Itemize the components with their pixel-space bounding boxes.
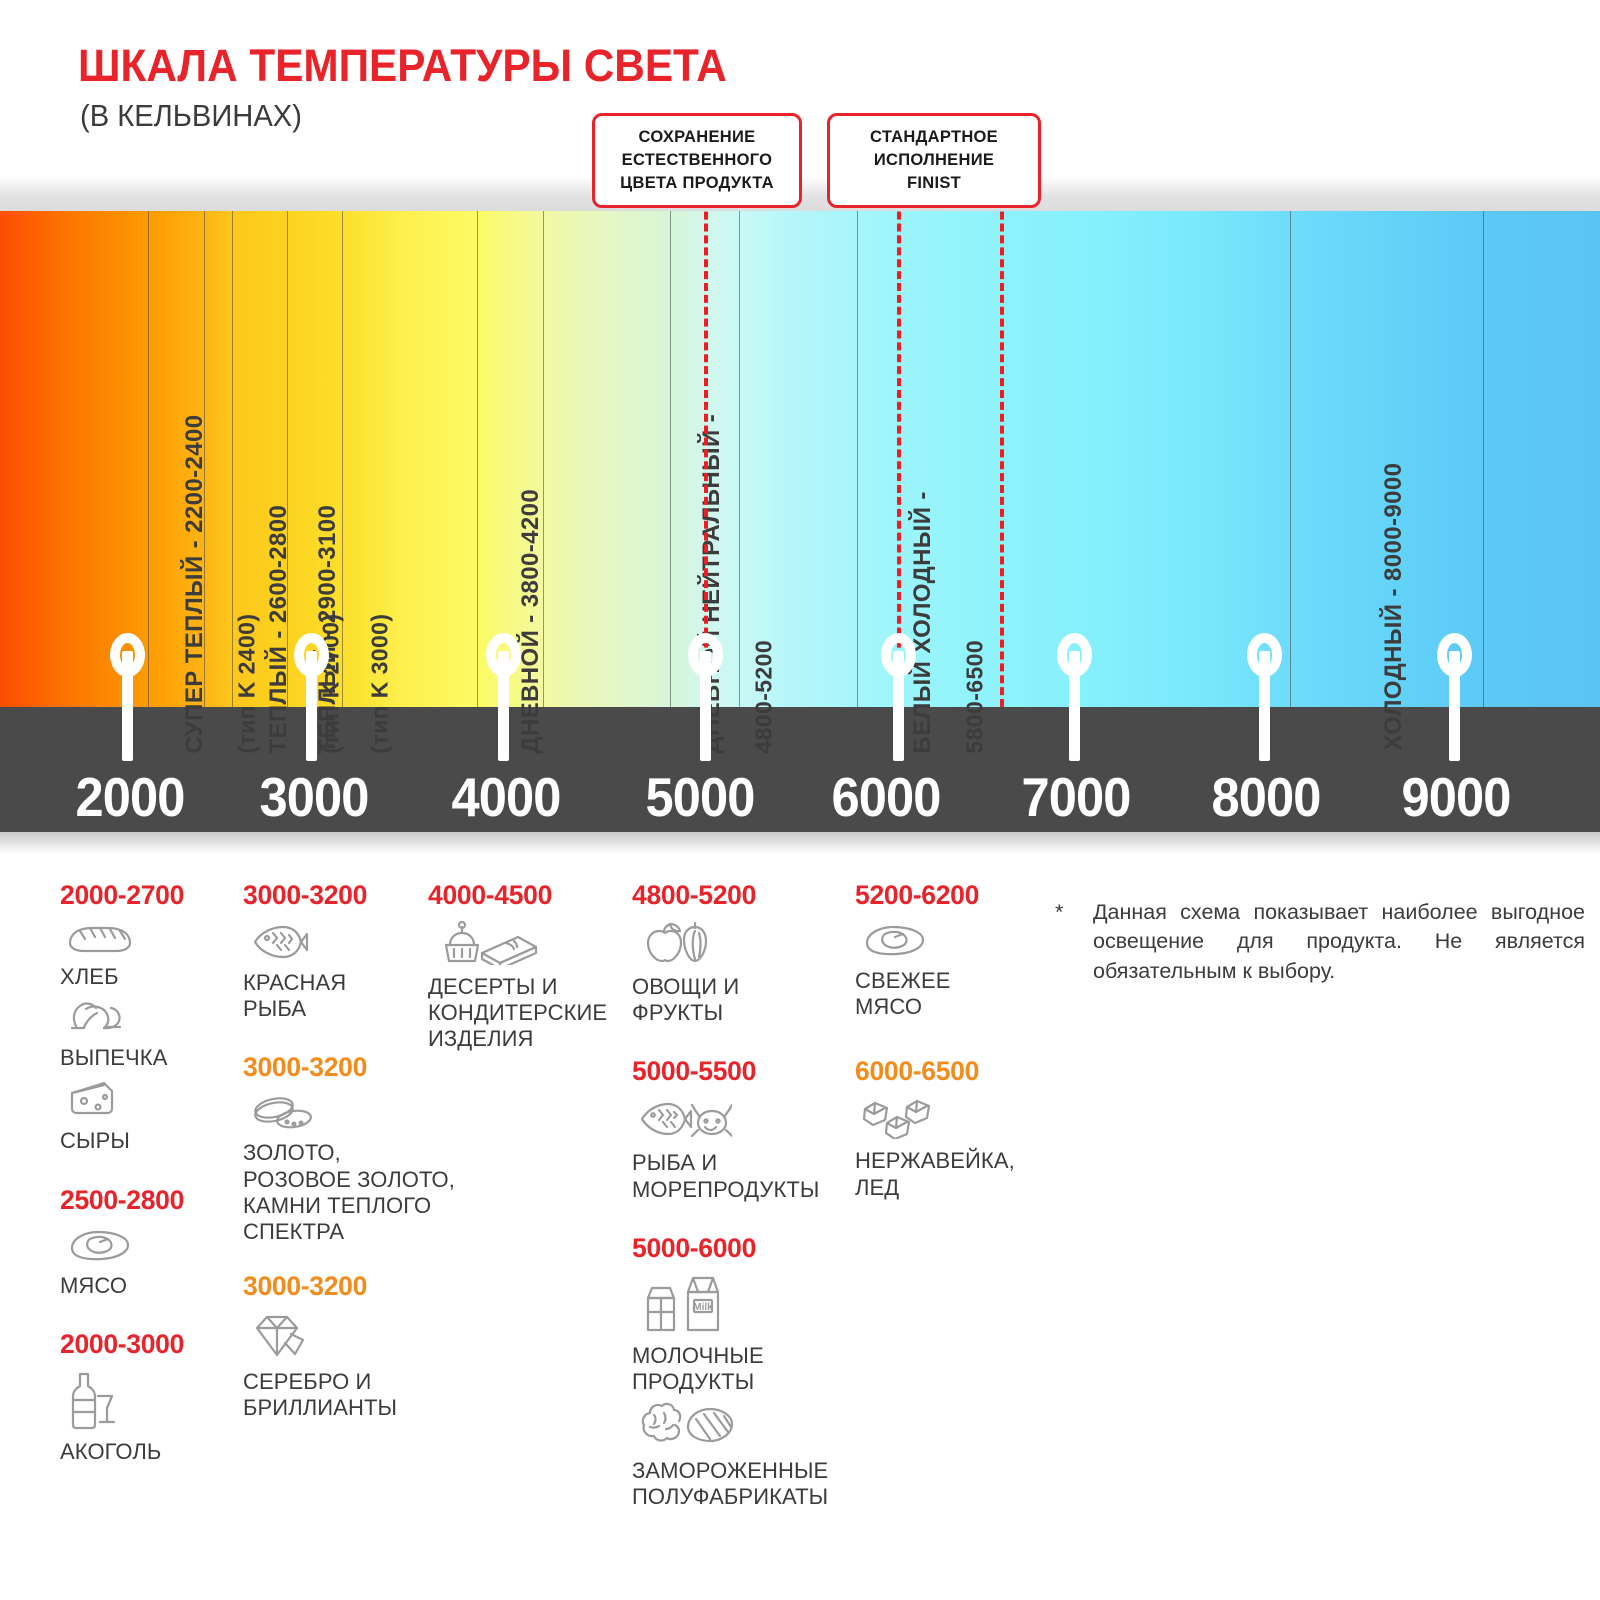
- legend-column-3: 4000-4500ДЕСЕРТЫ И КОНДИТЕРСКИЕ ИЗДЕЛИЯ: [428, 880, 628, 1079]
- legend-item-caption: ЗОЛОТО, РОЗОВОЕ ЗОЛОТО, КАМНИ ТЕПЛОГО СП…: [243, 1140, 483, 1245]
- page-subtitle: (В КЕЛЬВИНАХ): [80, 98, 302, 134]
- scale-label-8000: 8000: [1212, 765, 1321, 829]
- legend-range-label: 4000-4500: [428, 880, 628, 911]
- tick-ring: [1247, 633, 1282, 677]
- legend-group: 2000-3000АКОГОЛЬ: [60, 1329, 235, 1465]
- legend-item-caption: МЯСО: [60, 1273, 235, 1299]
- tick-ring: [688, 633, 723, 677]
- natural-color-marker-line: [704, 176, 708, 707]
- legend-item: ДЕСЕРТЫ И КОНДИТЕРСКИЕ ИЗДЕЛИЯ: [428, 921, 628, 1053]
- footnote: * Данная схема показывает наиболее выгод…: [1055, 898, 1585, 986]
- diamond-icon: [247, 1312, 483, 1365]
- legend-item: НЕРЖАВЕЙКА, ЛЕД: [855, 1097, 1035, 1200]
- scale-label-4000: 4000: [452, 765, 561, 829]
- legend-range-label: 5200-6200: [855, 880, 1035, 911]
- gold-rings-icon: [247, 1093, 483, 1136]
- legend-range-label: 6000-6500: [855, 1056, 1035, 1087]
- finist-marker-line-left: [897, 176, 901, 707]
- band-divider: [670, 211, 671, 707]
- band-divider: [857, 211, 858, 707]
- band-divider: [148, 211, 149, 707]
- scale-bar-shadow: [0, 832, 1600, 854]
- legend-column-1: 2000-2700ХЛЕБВЫПЕЧКАСЫРЫ2500-2800МЯСО200…: [60, 880, 235, 1491]
- scale-label-3000: 3000: [260, 765, 369, 829]
- legend-item: ВЫПЕЧКА: [60, 996, 235, 1071]
- legend: 2000-2700ХЛЕБВЫПЕЧКАСЫРЫ2500-2800МЯСО200…: [0, 880, 1600, 1600]
- tick-ring: [294, 633, 329, 677]
- footnote-text: Данная схема показывает наиболее выгодно…: [1093, 898, 1585, 986]
- band-label-cold: ХОЛОДНЫЙ - 8000-9000: [1355, 483, 1433, 793]
- legend-item-caption: ОВОЩИ И ФРУКТЫ: [632, 974, 847, 1026]
- legend-item: ЗОЛОТО, РОЗОВОЕ ЗОЛОТО, КАМНИ ТЕПЛОГО СП…: [243, 1093, 483, 1245]
- seafood-icon: [636, 1097, 847, 1146]
- legend-group: 3000-3200СЕРЕБРО И БРИЛЛИАНТЫ: [243, 1271, 483, 1421]
- legend-range-label: 2000-3000: [60, 1329, 235, 1360]
- legend-column-5: 5200-6200СВЕЖЕЕ МЯСО6000-6500НЕРЖАВЕЙКА,…: [855, 880, 1035, 1227]
- bread-icon: [64, 921, 235, 960]
- cake-icon: [432, 921, 628, 970]
- natural-color-callout: СОХРАНЕНИЕЕСТЕСТВЕННОГОЦВЕТА ПРОДУКТА: [592, 113, 802, 208]
- band-divider: [1483, 211, 1484, 707]
- legend-range-label: 5000-6000: [632, 1233, 847, 1264]
- legend-item-caption: ДЕСЕРТЫ И КОНДИТЕРСКИЕ ИЗДЕЛИЯ: [428, 974, 628, 1053]
- cheese-icon: [64, 1077, 235, 1124]
- frozen-food-icon: [636, 1401, 847, 1454]
- footnote-star: *: [1055, 898, 1063, 927]
- legend-group: 5000-5500РЫБА И МОРЕПРОДУКТЫ: [632, 1056, 847, 1202]
- legend-item: РЫБА И МОРЕПРОДУКТЫ: [632, 1097, 847, 1202]
- ice-cubes-icon: [859, 1097, 1035, 1144]
- legend-range-label: 2500-2800: [60, 1185, 235, 1216]
- legend-item: СЫРЫ: [60, 1077, 235, 1154]
- band-label-daylight-neutral: ДНЕВНОЙ НЕЙТРАЛЬНЫЙ - 4800-5200: [673, 418, 803, 796]
- legend-group: 5000-6000MilkМОЛОЧНЫЕ ПРОДУКТЫЗАМОРОЖЕНН…: [632, 1233, 847, 1511]
- legend-item-caption: РЫБА И МОРЕПРОДУКТЫ: [632, 1150, 847, 1202]
- spectrum-chart: СУПЕР ТЕПЛЫЙ - 2200-2400 (тип K 2400) ТЕ…: [0, 176, 1600, 856]
- scale-label-9000: 9000: [1402, 765, 1511, 829]
- finist-marker-line-right: [1000, 176, 1004, 707]
- scale-label-5000: 5000: [646, 765, 755, 829]
- legend-item: МЯСО: [60, 1226, 235, 1299]
- steak-icon: [64, 1226, 235, 1269]
- legend-item-caption: СВЕЖЕЕ МЯСО: [855, 968, 1035, 1020]
- tick-ring: [881, 633, 916, 677]
- legend-item: MilkМОЛОЧНЫЕ ПРОДУКТЫ: [632, 1274, 847, 1395]
- legend-range-label: 3000-3200: [243, 1271, 483, 1302]
- legend-group: 4000-4500ДЕСЕРТЫ И КОНДИТЕРСКИЕ ИЗДЕЛИЯ: [428, 880, 628, 1053]
- legend-range-label: 5000-5500: [632, 1056, 847, 1087]
- legend-range-label: 4800-5200: [632, 880, 847, 911]
- croissant-icon: [64, 996, 235, 1041]
- fruits-vegetables-icon: [636, 921, 847, 970]
- scale-label-6000: 6000: [832, 765, 941, 829]
- legend-item-caption: МОЛОЧНЫЕ ПРОДУКТЫ: [632, 1343, 847, 1395]
- legend-item: ЗАМОРОЖЕННЫЕ ПОЛУФАБРИКАТЫ: [632, 1401, 847, 1510]
- legend-item: ХЛЕБ: [60, 921, 235, 990]
- alcohol-icon: [64, 1370, 235, 1435]
- legend-item: ОВОЩИ И ФРУКТЫ: [632, 921, 847, 1026]
- legend-column-4: 4800-5200ОВОЩИ И ФРУКТЫ5000-5500РЫБА И М…: [632, 880, 847, 1536]
- svg-text:Milk: Milk: [693, 1302, 713, 1313]
- tick-ring: [486, 633, 521, 677]
- legend-item-caption: СЕРЕБРО И БРИЛЛИАНТЫ: [243, 1369, 483, 1421]
- legend-group: 2500-2800МЯСО: [60, 1185, 235, 1299]
- finist-standard-callout: СТАНДАРТНОЕИСПОЛНЕНИЕFINIST: [827, 113, 1041, 208]
- legend-item-caption: ЗАМОРОЖЕННЫЕ ПОЛУФАБРИКАТЫ: [632, 1458, 847, 1510]
- scale-label-7000: 7000: [1022, 765, 1131, 829]
- tick-ring: [1057, 633, 1092, 677]
- legend-item-caption: АКОГОЛЬ: [60, 1439, 235, 1465]
- band-divider: [1290, 211, 1291, 707]
- callout-text: СОХРАНЕНИЕЕСТЕСТВЕННОГОЦВЕТА ПРОДУКТА: [620, 128, 774, 192]
- legend-item: СЕРЕБРО И БРИЛЛИАНТЫ: [243, 1312, 483, 1421]
- legend-item-caption: СЫРЫ: [60, 1128, 235, 1154]
- legend-group: 5200-6200СВЕЖЕЕ МЯСО: [855, 880, 1035, 1020]
- legend-group: 3000-3200ЗОЛОТО, РОЗОВОЕ ЗОЛОТО, КАМНИ Т…: [243, 1052, 483, 1245]
- callout-text: СТАНДАРТНОЕИСПОЛНЕНИЕFINIST: [870, 128, 998, 192]
- legend-item-caption: НЕРЖАВЕЙКА, ЛЕД: [855, 1148, 1035, 1200]
- legend-group: 4800-5200ОВОЩИ И ФРУКТЫ: [632, 880, 847, 1026]
- legend-group: 6000-6500НЕРЖАВЕЙКА, ЛЕД: [855, 1056, 1035, 1200]
- fresh-meat-icon: [859, 921, 1035, 964]
- legend-range-label: 2000-2700: [60, 880, 235, 911]
- legend-item: АКОГОЛЬ: [60, 1370, 235, 1465]
- page-title: ШКАЛА ТЕМПЕРАТУРЫ СВЕТА: [78, 40, 727, 92]
- legend-item: СВЕЖЕЕ МЯСО: [855, 921, 1035, 1020]
- legend-item-caption: ВЫПЕЧКА: [60, 1045, 235, 1071]
- infographic-page: ШКАЛА ТЕМПЕРАТУРЫ СВЕТА (В КЕЛЬВИНАХ) СО…: [0, 0, 1600, 1600]
- milk-icon: Milk: [636, 1274, 847, 1339]
- scale-label-2000: 2000: [76, 765, 185, 829]
- legend-item-caption: ХЛЕБ: [60, 964, 235, 990]
- tick-ring: [110, 633, 145, 677]
- legend-group: 2000-2700ХЛЕБВЫПЕЧКАСЫРЫ: [60, 880, 235, 1155]
- tick-ring: [1437, 633, 1472, 677]
- band-divider: [477, 211, 478, 707]
